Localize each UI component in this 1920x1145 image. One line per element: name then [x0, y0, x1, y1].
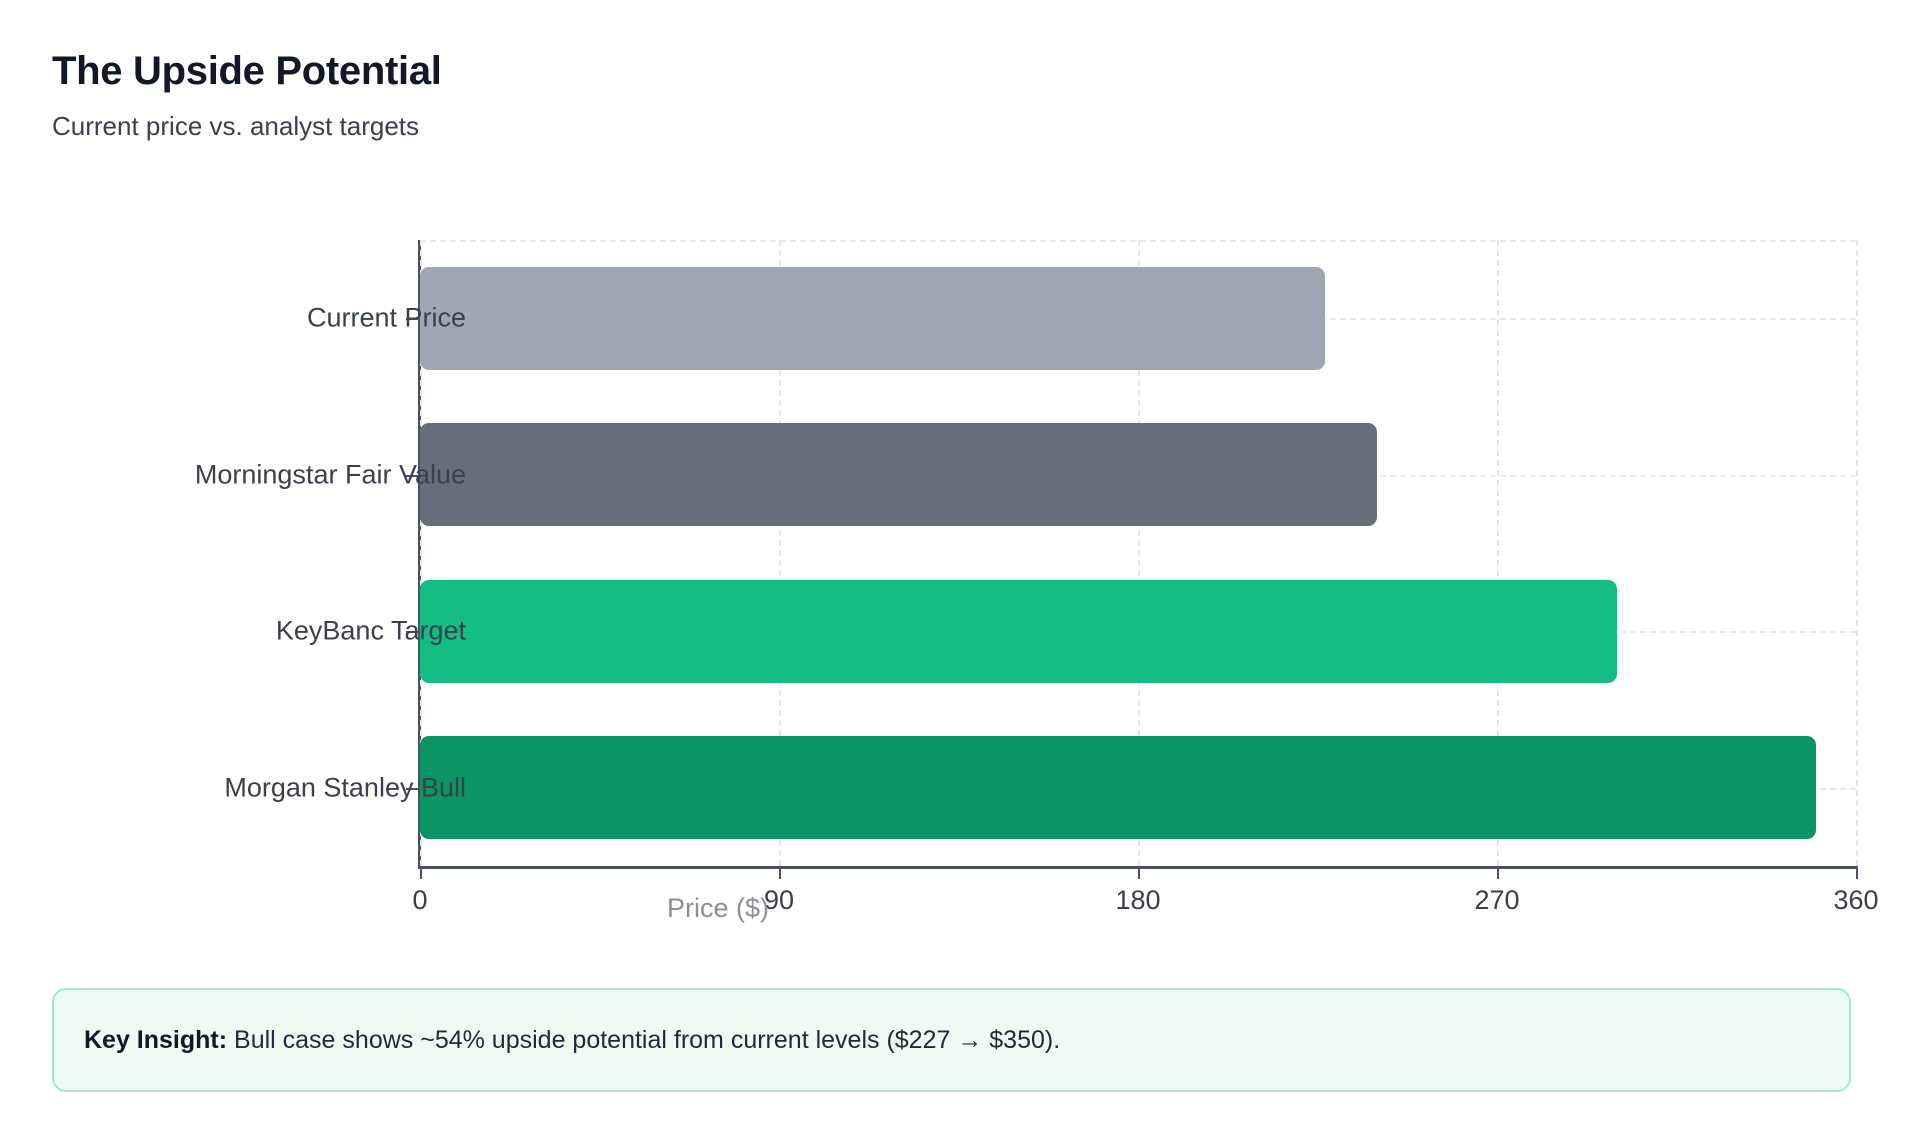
key-insight-callout: Key Insight: Bull case shows ~54% upside… — [52, 988, 1851, 1092]
bar-keybanc-target[interactable] — [420, 580, 1617, 683]
page-title: The Upside Potential — [52, 48, 1452, 94]
y-axis-label: Morningstar Fair Value — [195, 459, 466, 490]
bar-morningstar-fair-value[interactable] — [420, 423, 1377, 526]
x-axis-tick — [1856, 866, 1858, 879]
x-axis-tick-label: 270 — [1474, 885, 1519, 916]
y-axis-label: Current Price — [307, 303, 466, 334]
y-axis-label: KeyBanc Target — [276, 616, 466, 647]
x-axis-tick — [1497, 866, 1499, 879]
x-axis-tick — [779, 866, 781, 879]
x-axis-tick — [420, 866, 422, 879]
key-insight-body: Bull case shows ~54% upside potential fr… — [227, 1026, 1060, 1054]
bar-current-price[interactable] — [420, 267, 1325, 370]
key-insight-label: Key Insight: — [84, 1026, 227, 1054]
bar-morgan-stanley-bull[interactable] — [420, 736, 1816, 839]
x-axis-title: Price ($) — [667, 893, 769, 924]
chart-header: The Upside Potential Current price vs. a… — [52, 48, 1452, 142]
gridline-horizontal — [420, 240, 1856, 242]
plot-area: 090180270360 — [420, 240, 1856, 866]
y-axis-label: Morgan Stanley Bull — [224, 772, 466, 803]
key-insight-text: Key Insight: Bull case shows ~54% upside… — [84, 1024, 1060, 1057]
chart-page: The Upside Potential Current price vs. a… — [0, 0, 1920, 1145]
x-axis-tick — [1138, 866, 1140, 879]
page-subtitle: Current price vs. analyst targets — [52, 111, 1452, 142]
x-axis-tick-label: 0 — [412, 885, 427, 916]
x-axis-tick-label: 180 — [1115, 885, 1160, 916]
x-axis-tick-label: 360 — [1833, 885, 1878, 916]
bar-chart: 090180270360 Price ($) Current PriceMorn… — [0, 200, 1920, 960]
gridline-vertical — [1856, 240, 1858, 866]
